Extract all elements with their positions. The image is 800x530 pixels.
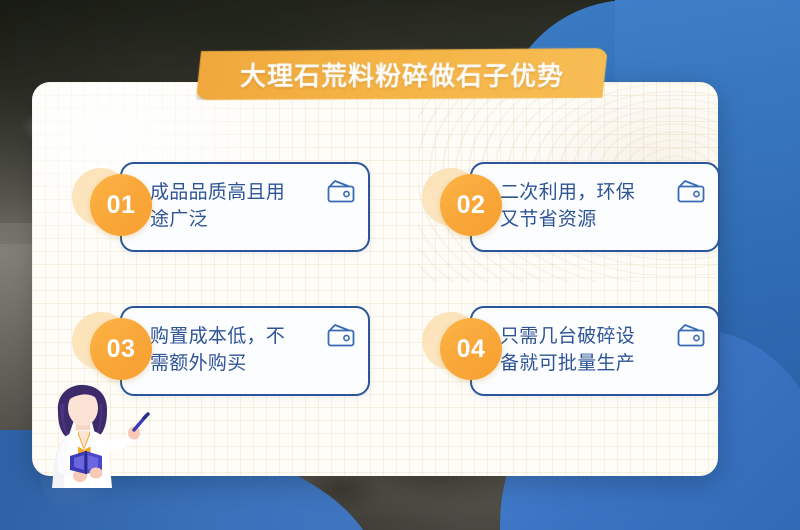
feature-badge-02: 02 bbox=[422, 174, 488, 240]
feature-card-01[interactable]: 成品品质高且用 途广泛 bbox=[120, 162, 370, 252]
feature-card-03-line2: 需额外购买 bbox=[150, 351, 285, 378]
wallet-icon bbox=[326, 178, 356, 204]
feature-card-02-line1: 二次利用，环保 bbox=[500, 180, 635, 207]
infographic-root: 大理石荒料粉碎做石子优势 成品品质高且用 途广泛 01 二次利用，环保 bbox=[0, 0, 800, 530]
feature-badge-04: 04 bbox=[422, 318, 488, 384]
feature-badge-01: 01 bbox=[72, 174, 138, 240]
title-banner: 大理石荒料粉碎做石子优势 bbox=[196, 48, 608, 100]
feature-card-01-line2: 途广泛 bbox=[150, 207, 285, 234]
feature-card-04-text: 只需几台破碎设 备就可批量生产 bbox=[472, 324, 679, 378]
feature-badge-04-circle: 04 bbox=[440, 318, 502, 380]
feature-badge-03-number: 03 bbox=[107, 335, 136, 364]
feature-badge-03-circle: 03 bbox=[90, 318, 152, 380]
feature-card-02-line2: 又节省资源 bbox=[500, 207, 635, 234]
wallet-icon bbox=[326, 322, 356, 348]
feature-card-04[interactable]: 只需几台破碎设 备就可批量生产 bbox=[470, 306, 720, 396]
feature-card-02-text: 二次利用，环保 又节省资源 bbox=[472, 180, 679, 234]
page-title: 大理石荒料粉碎做石子优势 bbox=[240, 56, 564, 93]
feature-card-04-line2: 备就可批量生产 bbox=[500, 351, 635, 378]
feature-card-04-line1: 只需几台破碎设 bbox=[500, 324, 635, 351]
feature-badge-03: 03 bbox=[72, 318, 138, 384]
feature-badge-02-circle: 02 bbox=[440, 174, 502, 236]
feature-badge-01-circle: 01 bbox=[90, 174, 152, 236]
feature-card-03-line1: 购置成本低，不 bbox=[150, 324, 285, 351]
feature-card-01-line1: 成品品质高且用 bbox=[150, 180, 285, 207]
feature-badge-04-number: 04 bbox=[457, 335, 486, 364]
feature-card-02[interactable]: 二次利用，环保 又节省资源 bbox=[470, 162, 720, 252]
wallet-icon bbox=[676, 322, 706, 348]
wallet-icon bbox=[676, 178, 706, 204]
feature-card-01-text: 成品品质高且用 途广泛 bbox=[122, 180, 329, 234]
feature-badge-02-number: 02 bbox=[457, 191, 486, 220]
female-presenter-character bbox=[30, 378, 160, 488]
feature-badge-01-number: 01 bbox=[107, 191, 136, 220]
feature-card-03-text: 购置成本低，不 需额外购买 bbox=[122, 324, 329, 378]
